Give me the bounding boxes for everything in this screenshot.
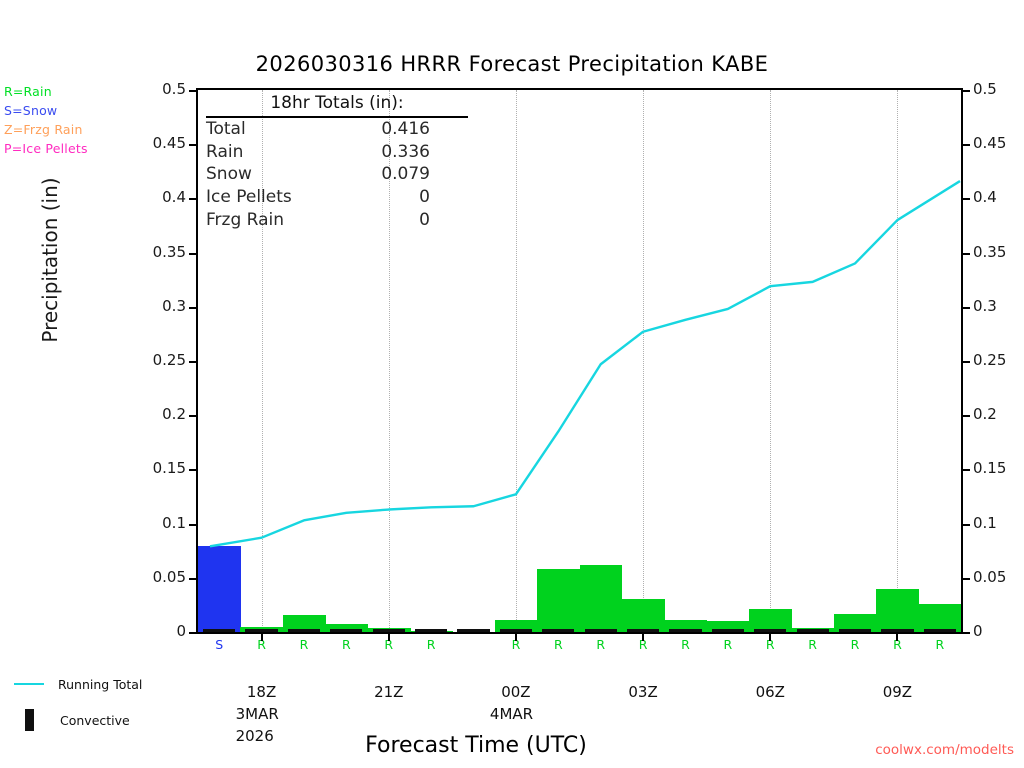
totals-row: Rain0.336 bbox=[206, 141, 468, 164]
y-tick-label-right: 0.05 bbox=[973, 568, 1006, 586]
x-tick-mark bbox=[896, 634, 898, 641]
y-tick-mark-right bbox=[963, 90, 970, 92]
x-tick-mark bbox=[769, 634, 771, 641]
y-tick-label-left: 0.25 bbox=[120, 351, 186, 369]
precip-type-letter: R bbox=[834, 637, 876, 652]
y-tick-label-left: 0.4 bbox=[120, 188, 186, 206]
y-tick-mark-right bbox=[963, 469, 970, 471]
y-tick-mark-right bbox=[963, 144, 970, 146]
y-tick-label-right: 0.45 bbox=[973, 134, 1006, 152]
y-tick-mark-right bbox=[963, 632, 970, 634]
totals-value: 0.079 bbox=[381, 163, 468, 186]
precip-legend-item-1: S=Snow bbox=[4, 101, 88, 120]
precip-type-letter: R bbox=[325, 637, 367, 652]
y-tick-mark-left bbox=[189, 632, 196, 634]
y-tick-label-left: 0.45 bbox=[120, 134, 186, 152]
y-tick-label-right: 0.25 bbox=[973, 351, 1006, 369]
y-tick-label-right: 0.1 bbox=[973, 514, 997, 532]
legend-entry: Running Total bbox=[10, 666, 142, 702]
precip-type-letter: R bbox=[283, 637, 325, 652]
x-tick-sublabel-date: 4MAR bbox=[490, 705, 533, 723]
y-tick-label-right: 0 bbox=[973, 622, 983, 640]
y-tick-label-left: 0.3 bbox=[120, 297, 186, 315]
y-tick-mark-right bbox=[963, 253, 970, 255]
y-tick-mark-left bbox=[189, 198, 196, 200]
y-tick-label-left: 0.5 bbox=[120, 80, 186, 98]
totals-label: Total bbox=[206, 118, 246, 141]
y-tick-mark-right bbox=[963, 524, 970, 526]
y-tick-mark-right bbox=[963, 578, 970, 580]
x-tick-label: 09Z bbox=[857, 683, 937, 701]
precip-legend-item-0: R=Rain bbox=[4, 82, 88, 101]
totals-rows: Total0.416Rain0.336Snow0.079Ice Pellets0… bbox=[206, 118, 468, 232]
y-tick-label-right: 0.15 bbox=[973, 459, 1006, 477]
totals-row: Ice Pellets0 bbox=[206, 186, 468, 209]
totals-row: Frzg Rain0 bbox=[206, 209, 468, 232]
y-tick-label-right: 0.5 bbox=[973, 80, 997, 98]
running-total-swatch-icon bbox=[14, 683, 44, 685]
precip-type-letter: R bbox=[537, 637, 579, 652]
x-tick-mark bbox=[642, 634, 644, 641]
y-tick-mark-left bbox=[189, 524, 196, 526]
y-axis-title: Precipitation (in) bbox=[38, 150, 62, 370]
precip-type-legend: R=RainS=SnowZ=Frzg RainP=Ice Pellets bbox=[4, 82, 88, 158]
totals-heading: 18hr Totals (in): bbox=[206, 92, 468, 118]
y-tick-mark-right bbox=[963, 198, 970, 200]
totals-label: Ice Pellets bbox=[206, 186, 292, 209]
page-title: 2026030316 HRRR Forecast Precipitation K… bbox=[0, 52, 1024, 76]
x-tick-label: 00Z bbox=[476, 683, 556, 701]
totals-value: 0.336 bbox=[381, 141, 468, 164]
y-tick-mark-left bbox=[189, 415, 196, 417]
y-tick-label-left: 0 bbox=[120, 622, 186, 640]
y-tick-mark-left bbox=[189, 469, 196, 471]
totals-box: 18hr Totals (in): Total0.416Rain0.336Sno… bbox=[206, 92, 468, 232]
totals-value: 0 bbox=[419, 209, 468, 232]
totals-label: Rain bbox=[206, 141, 243, 164]
y-tick-mark-left bbox=[189, 307, 196, 309]
y-tick-label-left: 0.2 bbox=[120, 405, 186, 423]
totals-value: 0 bbox=[419, 186, 468, 209]
legend-label: Running Total bbox=[58, 677, 142, 692]
running-total-polyline bbox=[210, 181, 960, 546]
precip-type-letter: S bbox=[198, 637, 240, 652]
totals-row: Snow0.079 bbox=[206, 163, 468, 186]
precip-legend-item-2: Z=Frzg Rain bbox=[4, 120, 88, 139]
precip-type-letter: R bbox=[580, 637, 622, 652]
y-tick-mark-left bbox=[189, 578, 196, 580]
totals-value: 0.416 bbox=[381, 118, 468, 141]
y-tick-mark-left bbox=[189, 144, 196, 146]
y-tick-label-right: 0.35 bbox=[973, 243, 1006, 261]
y-tick-label-left: 0.1 bbox=[120, 514, 186, 532]
x-tick-label: 21Z bbox=[349, 683, 429, 701]
y-tick-label-right: 0.2 bbox=[973, 405, 997, 423]
y-tick-label-right: 0.3 bbox=[973, 297, 997, 315]
y-tick-mark-left bbox=[189, 253, 196, 255]
x-tick-mark bbox=[261, 634, 263, 641]
legend-entry: Convective bbox=[10, 702, 142, 738]
chart-canvas: 2026030316 HRRR Forecast Precipitation K… bbox=[0, 0, 1024, 768]
precip-type-letter: R bbox=[664, 637, 706, 652]
y-tick-mark-right bbox=[963, 415, 970, 417]
totals-row: Total0.416 bbox=[206, 118, 468, 141]
totals-label: Frzg Rain bbox=[206, 209, 284, 232]
precip-type-letter: R bbox=[919, 637, 961, 652]
x-tick-label: 03Z bbox=[603, 683, 683, 701]
precip-type-letter: R bbox=[791, 637, 833, 652]
watermark: coolwx.com/modelts bbox=[875, 742, 1014, 758]
y-tick-label-left: 0.05 bbox=[120, 568, 186, 586]
chart-legend: Running TotalConvective bbox=[10, 666, 142, 738]
y-tick-label-right: 0.4 bbox=[973, 188, 997, 206]
x-tick-sublabel-date: 3MAR bbox=[236, 705, 279, 723]
y-tick-mark-left bbox=[189, 90, 196, 92]
x-tick-mark bbox=[388, 634, 390, 641]
precip-type-letter: R bbox=[707, 637, 749, 652]
x-axis-title: Forecast Time (UTC) bbox=[196, 733, 756, 758]
legend-label: Convective bbox=[60, 713, 130, 728]
y-tick-mark-right bbox=[963, 361, 970, 363]
precip-type-letter: R bbox=[410, 637, 452, 652]
x-tick-mark bbox=[515, 634, 517, 641]
y-tick-mark-left bbox=[189, 361, 196, 363]
x-tick-label: 06Z bbox=[730, 683, 810, 701]
y-tick-label-left: 0.15 bbox=[120, 459, 186, 477]
y-tick-label-left: 0.35 bbox=[120, 243, 186, 261]
totals-label: Snow bbox=[206, 163, 252, 186]
x-tick-label: 18Z bbox=[222, 683, 302, 701]
y-tick-mark-right bbox=[963, 307, 970, 309]
convective-swatch-icon bbox=[25, 709, 34, 731]
